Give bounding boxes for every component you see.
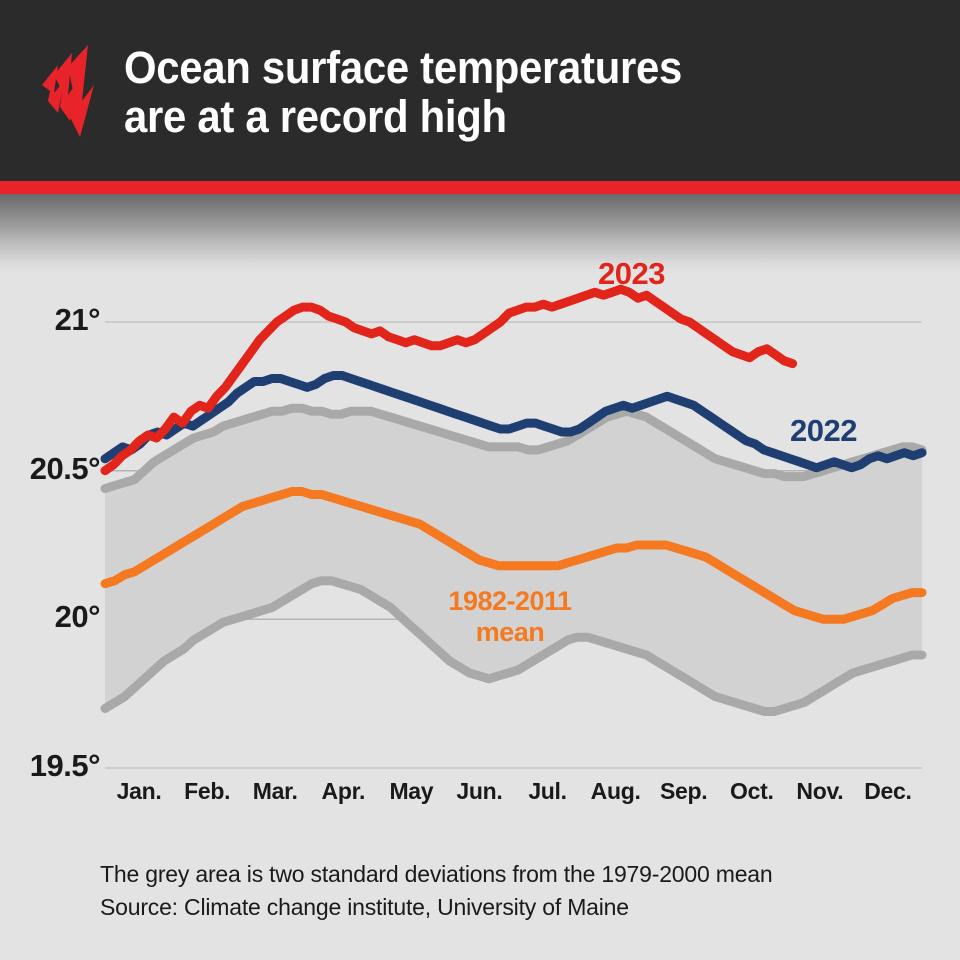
series-label-2023: 2023 — [598, 256, 665, 292]
y-tick-20: 20° — [0, 599, 100, 635]
footer-notes: The grey area is two standard deviations… — [100, 858, 940, 924]
chart-area: 21° 20.5° 20° 19.5° 2023 2022 1982-2011 … — [0, 194, 960, 834]
footnote-source: Source: Climate change institute, Univer… — [100, 891, 940, 924]
series-label-mean: 1982-2011 mean — [410, 586, 610, 648]
mean-label-line-2: mean — [410, 617, 610, 648]
infographic-page: Ocean surface temperatures are at a reco… — [0, 0, 960, 960]
accent-bar — [0, 181, 960, 194]
y-tick-195: 19.5° — [0, 748, 100, 784]
mean-label-line-1: 1982-2011 — [410, 586, 610, 617]
title-line-1: Ocean surface temperatures — [124, 43, 682, 92]
y-tick-21: 21° — [0, 302, 100, 338]
sbs-flame-logo — [28, 41, 106, 141]
footnote-grey-area: The grey area is two standard deviations… — [100, 858, 940, 891]
temperature-line-chart — [0, 194, 960, 834]
header-bar: Ocean surface temperatures are at a reco… — [0, 0, 960, 181]
y-tick-205: 20.5° — [0, 451, 100, 487]
series-label-2022: 2022 — [790, 413, 857, 449]
title-line-2: are at a record high — [124, 92, 682, 141]
x-tick-dec: Dec. — [838, 778, 938, 805]
page-title: Ocean surface temperatures are at a reco… — [124, 41, 682, 141]
